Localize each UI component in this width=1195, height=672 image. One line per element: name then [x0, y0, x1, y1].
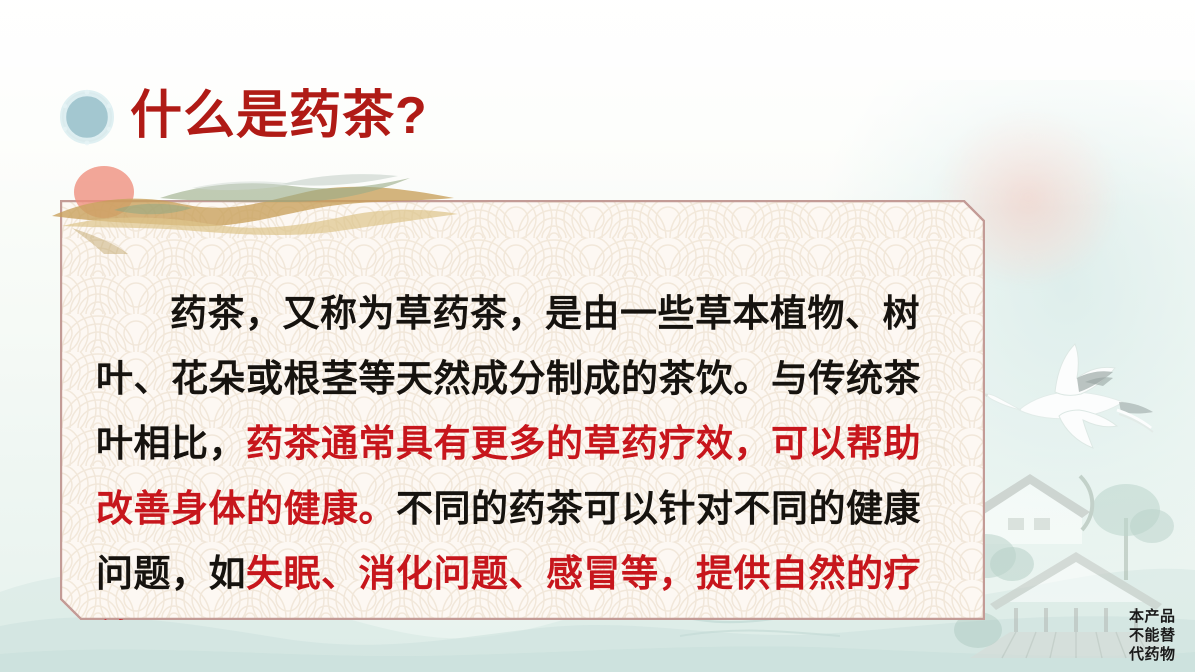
content-box: 药茶，又称为草药茶，是由一些草本植物、树叶、花朵或根茎等天然成分制成的茶饮。与传… — [60, 200, 985, 620]
disclaimer-text: 本产品 不能替 代药物 — [1129, 607, 1187, 664]
disclaimer-line-2: 不能替 — [1129, 626, 1187, 645]
disclaimer-line-1: 本产品 — [1129, 607, 1187, 626]
body-paragraph: 药茶，又称为草药茶，是由一些草本植物、树叶、花朵或根茎等天然成分制成的茶饮。与传… — [60, 237, 985, 671]
title-row: 什么是药茶? — [58, 88, 428, 146]
slide-canvas: 什么是药茶? — [0, 0, 1195, 672]
circular-seal-icon — [58, 88, 116, 146]
disclaimer-line-3: 代药物 — [1129, 645, 1187, 664]
flying-crane-icon — [967, 322, 1177, 472]
page-title: 什么是药茶? — [130, 90, 428, 143]
